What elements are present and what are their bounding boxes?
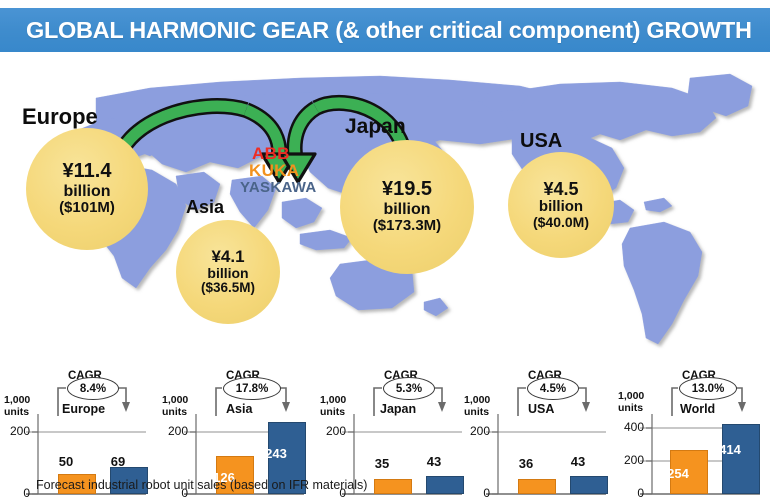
chart-usa-ylabel-2: units [464,406,490,418]
infographic-page: GLOBAL HARMONIC GEAR (& other critical c… [0,0,770,500]
chart-usa-bar-2015 [518,479,556,494]
chart-asia-ylabel-2: units [162,406,188,418]
chart-japan-value-2015: 35 [358,456,406,471]
chart-japan-ylabel-1: 1,000 [320,394,346,406]
bubble-japan-unit: billion [383,201,430,218]
bubble-japan-usd: ($173.3M) [373,218,441,234]
brand-kuka: KUKA [249,161,299,181]
chart-usa-value-2015: 36 [502,456,550,471]
chart-europe-value-2019: 69 [94,454,142,469]
bubble-asia-unit: billion [207,266,248,281]
bubble-europe-usd: ($101M) [59,200,115,216]
region-label-japan: Japan [345,115,406,139]
footnote: Forecast industrial robot unit sales (ba… [36,478,367,492]
chart-world-ytick-200: 200 [616,453,644,467]
chart-world-ylabel-2: units [618,402,644,414]
bubble-asia-usd: ($36.5M) [201,281,255,296]
chart-world-bar-2019 [722,424,760,494]
chart-japan-ylabel-2: units [320,406,346,418]
chart-europe-ylabel-1: 1,000 [4,394,30,406]
chart-world-ytick-400: 400 [616,420,644,434]
chart-japan-bar-2019 [426,476,464,494]
chart-europe-cagr-value: 8.4% [67,377,119,400]
chart-asia-cagr-value: 17.8% [223,377,281,400]
chart-japan-cagr-value: 5.3% [383,377,435,400]
chart-usa-ylabel-1: 1,000 [464,394,490,406]
region-label-usa: USA [520,130,562,153]
chart-japan-ytick-200: 200 [318,424,346,438]
map-area: Europe Asia Japan USA ¥11.4 billion ($10… [0,52,770,500]
bubble-japan: ¥19.5 billion ($173.3M) [340,140,474,274]
bubble-europe-amount: ¥11.4 [63,161,112,183]
chart-world: CAGR 13.0% World [616,370,768,500]
bubble-europe-unit: billion [63,183,110,200]
chart-europe-ylabel-2: units [4,406,30,418]
chart-usa-bar-2019 [570,476,608,494]
chart-world-value-2019: 414 [706,442,754,457]
page-title: GLOBAL HARMONIC GEAR (& other critical c… [0,17,752,44]
brand-yaskawa: YASKAWA [240,179,317,196]
chart-usa-value-2019: 43 [554,454,602,469]
title-bar: GLOBAL HARMONIC GEAR (& other critical c… [0,8,770,52]
bubble-usa-amount: ¥4.5 [543,180,578,199]
chart-world-ytick-0: 0 [616,486,644,500]
bubble-usa-usd: ($40.0M) [533,215,589,230]
bubble-europe: ¥11.4 billion ($101M) [26,128,148,250]
chart-japan-bar-2015 [374,479,412,494]
bubble-usa: ¥4.5 billion ($40.0M) [508,152,614,258]
chart-usa-cagr-value: 4.5% [527,377,579,400]
chart-world-ylabel-1: 1,000 [618,390,644,402]
bubble-asia: ¥4.1 billion ($36.5M) [176,220,280,324]
chart-asia-ytick-200: 200 [160,424,188,438]
chart-usa-ytick-200: 200 [462,424,490,438]
chart-europe-value-2015: 50 [42,454,90,469]
chart-world-value-2015: 254 [654,466,702,481]
region-label-asia: Asia [186,197,224,218]
chart-world-cagr-value: 13.0% [679,377,737,400]
chart-europe-ytick-200: 200 [2,424,30,438]
bubble-japan-amount: ¥19.5 [382,179,432,201]
region-label-europe: Europe [22,104,98,130]
chart-japan-value-2019: 43 [410,454,458,469]
chart-asia-ylabel-1: 1,000 [162,394,188,406]
chart-europe-ytick-0: 0 [2,486,30,500]
bubble-asia-amount: ¥4.1 [211,248,244,266]
chart-usa-ytick-0: 0 [462,486,490,500]
bubble-usa-unit: billion [539,199,583,215]
chart-usa: CAGR 4.5% USA 1,000 [462,370,614,500]
chart-asia-value-2019: 243 [252,446,300,461]
